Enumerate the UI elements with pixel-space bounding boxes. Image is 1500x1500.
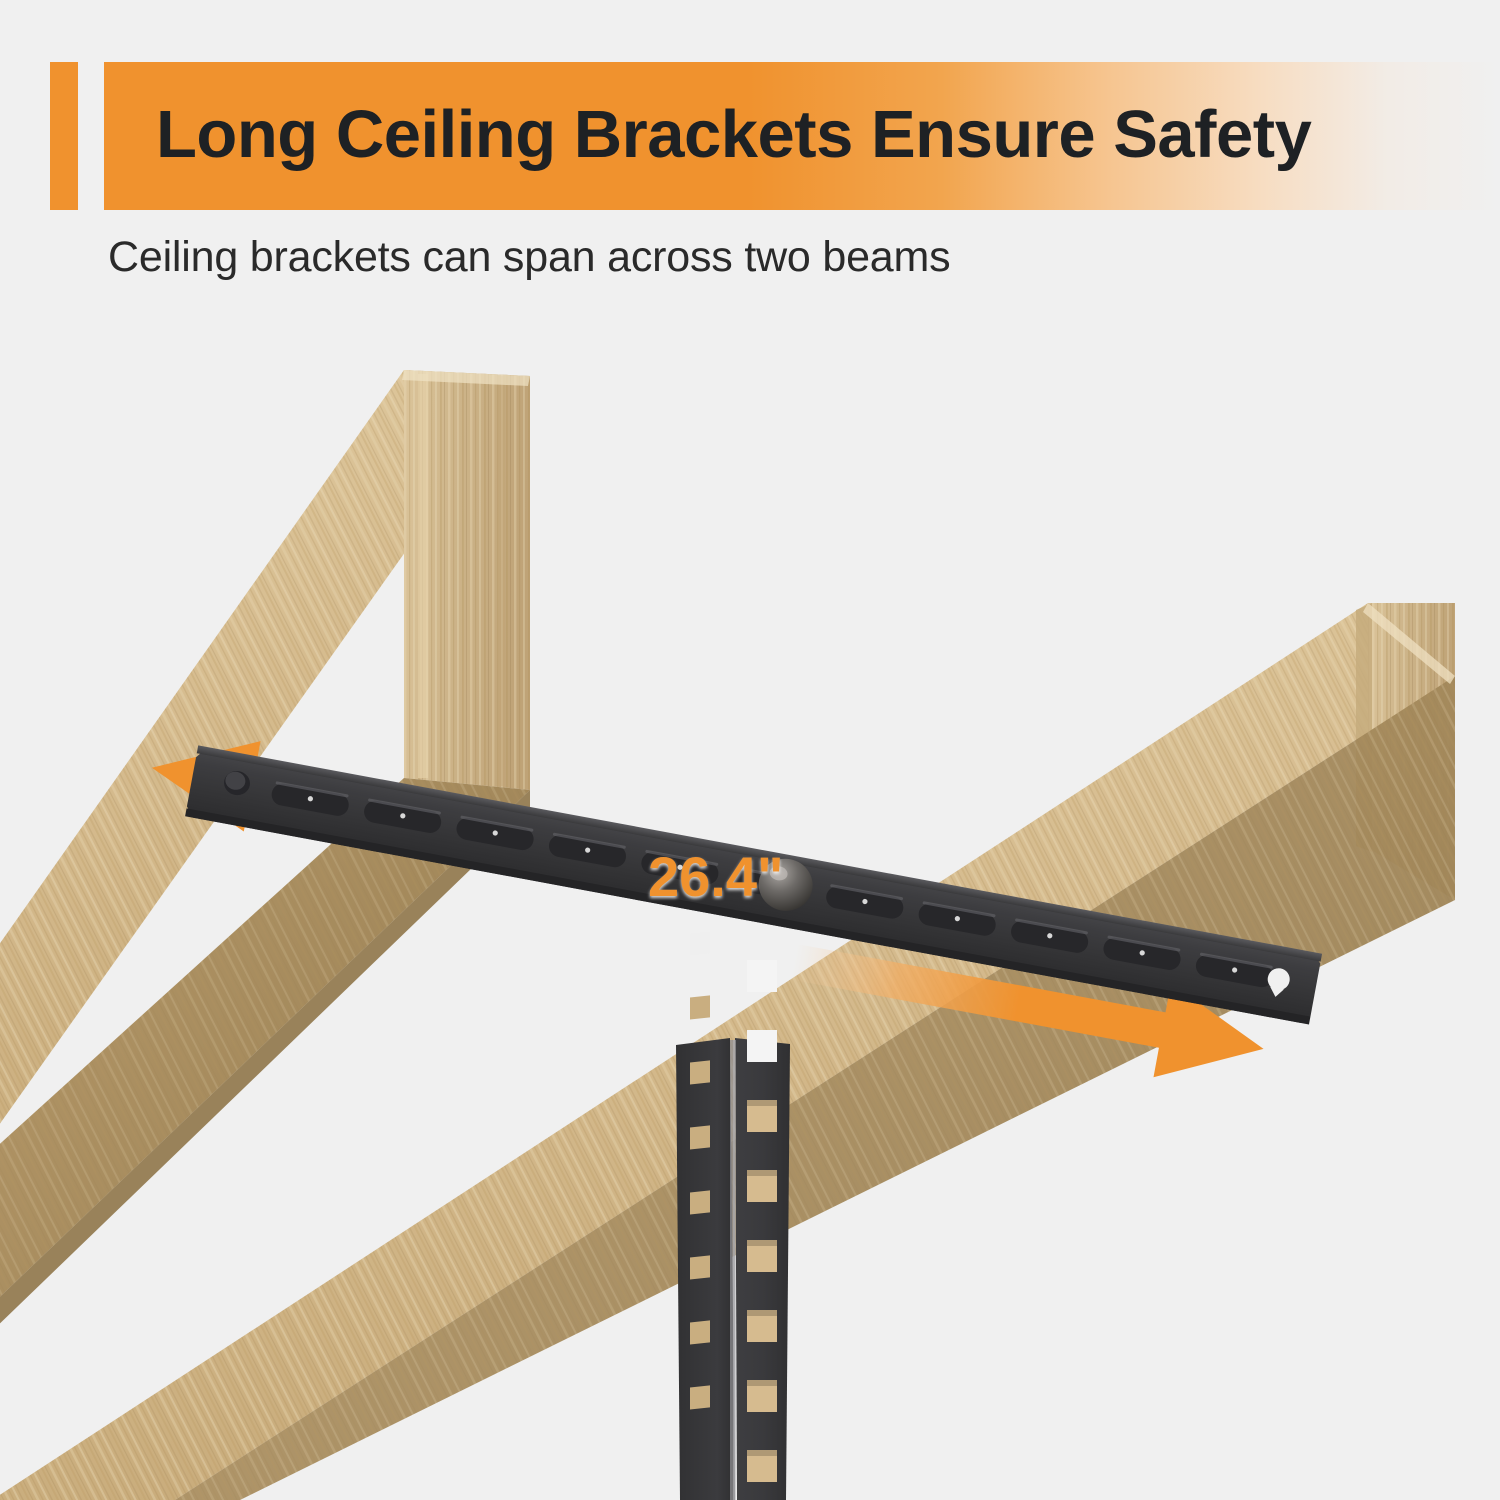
page-subtitle: Ceiling brackets can span across two bea… — [108, 236, 950, 279]
post-left-face-holes-upper — [690, 931, 710, 955]
product-feature-image: Long Ceiling Brackets Ensure Safety Ceil… — [0, 0, 1500, 1500]
title-gradient-band: Long Ceiling Brackets Ensure Safety — [104, 62, 1500, 210]
page-title: Long Ceiling Brackets Ensure Safety — [156, 101, 1311, 168]
product-illustration: 26.4" — [0, 300, 1500, 1500]
header-banner: Long Ceiling Brackets Ensure Safety — [0, 62, 1500, 210]
dimension-label: 26.4" — [648, 849, 784, 905]
orange-accent-tab — [50, 62, 78, 210]
